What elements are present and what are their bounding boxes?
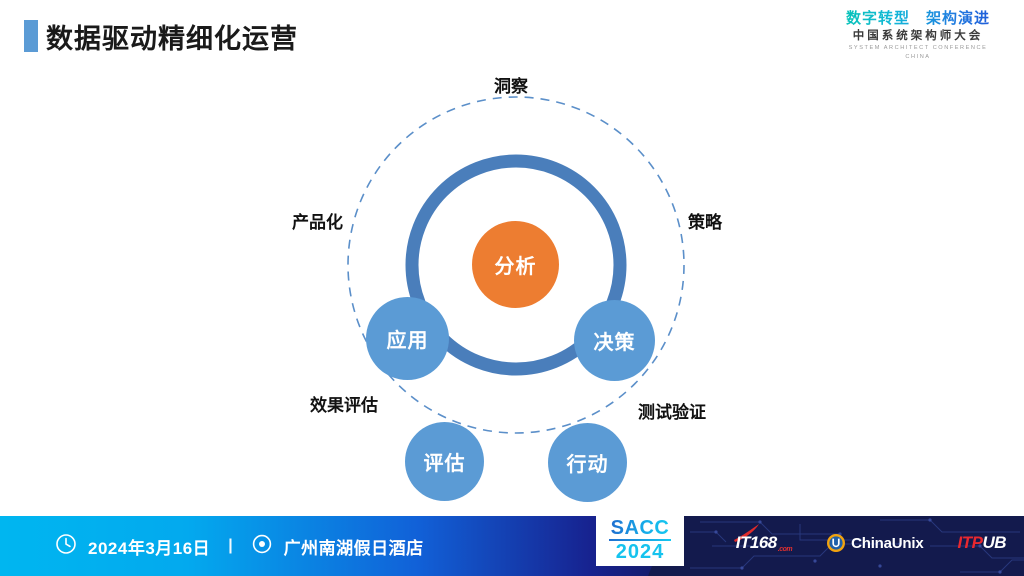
- clock-icon: [55, 533, 77, 560]
- sponsor-chinaunix[interactable]: ChinaUnix: [826, 533, 923, 553]
- slide: 数据驱动精细化运营 数字转型 架构演进 中国系统架构师大会 SYSTEM ARC…: [0, 0, 1024, 576]
- outer-label-effect-eval: 效果评估: [310, 391, 378, 416]
- cycle-diagram: 分析 决策 行动 评估 应用 洞察 策略 测试验证 效果评估 产品化: [0, 62, 1024, 512]
- footer-info: 2024年3月16日 | 广州南湖假日酒店: [55, 516, 424, 576]
- node-decision-label: 决策: [594, 326, 636, 355]
- node-analysis-label: 分析: [495, 250, 537, 279]
- sponsor-it168[interactable]: IT168.com: [736, 533, 792, 553]
- event-date: 2024年3月16日: [88, 534, 210, 559]
- sponsor-logos: IT168.com ChinaUnix ITPUB: [736, 513, 1006, 573]
- brand-name-en: SYSTEM ARCHITECT CONFERENCE CHINA: [838, 44, 998, 62]
- outer-label-test-verify: 测试验证: [638, 398, 706, 423]
- chinaunix-u-icon: [826, 533, 846, 553]
- title-accent-bar: [24, 20, 38, 52]
- outer-label-insight: 洞察: [494, 72, 528, 97]
- chinaunix-wordmark: ChinaUnix: [851, 535, 923, 552]
- sacc-year: 2024: [616, 542, 665, 562]
- brand-name-cn: 中国系统架构师大会: [838, 29, 998, 44]
- it168-wordmark: IT168.com: [736, 533, 792, 553]
- node-application[interactable]: 应用: [366, 297, 449, 380]
- node-action[interactable]: 行动: [548, 423, 627, 502]
- outer-label-productize: 产品化: [292, 208, 343, 233]
- node-evaluation-label: 评估: [424, 447, 466, 476]
- node-decision[interactable]: 决策: [574, 300, 655, 381]
- itpub-wordmark: ITPUB: [957, 533, 1006, 553]
- node-evaluation[interactable]: 评估: [405, 422, 484, 501]
- sacc-badge: SACC 2024: [596, 513, 684, 566]
- conference-logo: 数字转型 架构演进 中国系统架构师大会 SYSTEM ARCHITECT CON…: [838, 10, 998, 62]
- node-application-label: 应用: [387, 324, 429, 353]
- brand-tagline: 数字转型 架构演进: [838, 10, 998, 28]
- location-pin-icon: [251, 533, 273, 560]
- node-analysis[interactable]: 分析: [472, 221, 559, 308]
- sacc-name: SACC: [611, 518, 670, 538]
- footer-separator: |: [228, 537, 232, 555]
- page-title: 数据驱动精细化运营: [46, 17, 298, 56]
- slide-header: 数据驱动精细化运营 数字转型 架构演进 中国系统架构师大会 SYSTEM ARC…: [0, 0, 1024, 62]
- sponsor-itpub[interactable]: ITPUB: [957, 533, 1006, 553]
- event-venue: 广州南湖假日酒店: [284, 534, 424, 559]
- node-action-label: 行动: [567, 448, 609, 477]
- outer-label-strategy: 策略: [688, 208, 722, 233]
